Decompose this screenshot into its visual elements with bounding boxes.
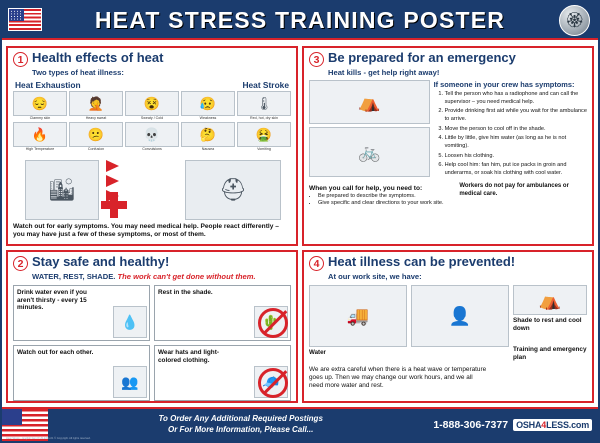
- symptom-caption: Sweaty / Cold: [125, 117, 179, 121]
- nausea-icon: 🤔: [181, 122, 235, 147]
- headache-icon: 🤦: [69, 91, 123, 116]
- call-bullets: Be prepared to describe the symptoms. Gi…: [309, 193, 453, 208]
- list-item: Be prepared to describe the symptoms.: [318, 193, 453, 200]
- thermometer-icon: 🌡: [237, 91, 291, 116]
- panel-2-title: Stay safe and healthy!: [32, 255, 169, 269]
- symptom-cell: 🤮 Vomiting: [237, 122, 291, 151]
- panel-1-illustration: 🏙 ⛑: [13, 154, 291, 220]
- federal-seal-icon: 🏵: [559, 5, 590, 36]
- panel-3-body: ⛺ 🚲 If someone in your crew has symptoms…: [309, 80, 587, 180]
- arrow-right-icon: [106, 175, 119, 187]
- tip-watch-each-other: Watch out for each other. 👥: [13, 345, 150, 401]
- safety-tips-grid: Drink water even if you aren't thirsty -…: [13, 285, 291, 401]
- training-session-icon: 👤: [411, 285, 509, 347]
- contact-block: 1-888-306-7377 OSHA4LESS.com: [433, 419, 598, 431]
- panel-4-title: Heat illness can be prevented!: [328, 255, 515, 269]
- symptom-cell: 😔 Clammy skin: [13, 91, 67, 120]
- panel-3-head: 3 Be prepared for an emergency: [309, 51, 587, 67]
- order-instructions: To Order Any Additional Required Posting…: [48, 414, 433, 436]
- tip-text: Drink water even if you aren't thirsty -…: [17, 289, 97, 312]
- symptom-icon-grid: 😔 Clammy skin 🤦 Heavy sweat 😵 Sweaty / C…: [13, 91, 291, 152]
- osha4less-logo[interactable]: OSHA4LESS.com: [513, 419, 592, 431]
- flag-canton: [9, 9, 24, 21]
- panel-1-subtitle: Two types of heat illness:: [32, 68, 291, 77]
- panel-1-title: Health effects of heat: [32, 51, 163, 65]
- sweating-person-icon: 😔: [13, 91, 67, 116]
- heat-stress-poster: HEAT STRESS TRAINING POSTER 🏵 1 Health e…: [0, 0, 600, 443]
- list-item: Help cool him: fan him, put ice packs in…: [445, 162, 587, 177]
- panel-health-effects: 1 Health effects of heat Two types of he…: [6, 46, 298, 246]
- panel-1-footer-text: Watch out for early symptoms. You may ne…: [13, 223, 291, 239]
- call-for-help-block: When you call for help, you need to: Be …: [309, 183, 453, 208]
- panel-1-head: 1 Health effects of heat: [13, 51, 291, 67]
- caption-water: Water: [309, 349, 407, 356]
- order-line-2: Or For More Information, Please Call...: [48, 425, 433, 436]
- symptom-caption: Red, hot, dry skin: [237, 117, 291, 121]
- symptom-cell: 💀 Convulsions: [125, 122, 179, 151]
- symptom-caption: Weakness: [181, 117, 235, 121]
- panel-4-side-labels: ⛺ Shade to rest and cool down Training a…: [513, 285, 587, 362]
- panel-4-illustrations: 🚚 Water 👤 ⛺ Shade to rest and cool down …: [309, 285, 587, 362]
- list-item: Provide drinking first aid while you wai…: [445, 108, 587, 123]
- label-heat-exhaustion: Heat Exhaustion: [15, 80, 81, 90]
- panel-emergency: 3 Be prepared for an emergency Heat kill…: [302, 46, 594, 246]
- shade-tent-icon: ⛺: [513, 285, 587, 315]
- panel-1-number: 1: [13, 52, 28, 67]
- panel-2-subtitle-em: The work can't get done without them.: [118, 272, 256, 281]
- symptom-caption: Heavy sweat: [69, 117, 123, 121]
- prohibition-symbol-icon: [258, 308, 288, 338]
- symptom-cell: 🤦 Heavy sweat: [69, 91, 123, 120]
- training-block: 👤: [411, 285, 509, 347]
- tip-rest-shade: Rest in the shade. 🌵: [154, 285, 291, 341]
- high-temp-icon: 🔥: [13, 122, 67, 147]
- logo-post: LESS.com: [546, 420, 589, 430]
- shade-tent-icon: ⛺: [309, 80, 430, 124]
- list-item: Tell the person who has a radiophone and…: [445, 91, 587, 106]
- panel-3-bottom: When you call for help, you need to: Be …: [309, 183, 587, 208]
- page-title: HEAT STRESS TRAINING POSTER: [95, 7, 505, 34]
- list-item: Move the person to cool off in the shade…: [445, 126, 587, 134]
- eagle-glyph: 🏵: [565, 13, 584, 28]
- list-item: Loosen his clothing.: [445, 153, 587, 161]
- list-item: Give specific and clear directions to yo…: [318, 200, 453, 207]
- symptom-cell: 😵 Sweaty / Cold: [125, 91, 179, 120]
- tip-text: Watch out for each other.: [17, 349, 97, 357]
- arrow-right-icon: [106, 160, 119, 172]
- panel-4-subtitle: At our work site, we have:: [328, 272, 587, 281]
- call-heading: When you call for help, you need to:: [309, 185, 453, 192]
- symptom-cell: 🌡 Red, hot, dry skin: [237, 91, 291, 120]
- first-aid-cooling-icon: ⛑: [185, 160, 281, 220]
- logo-pre: OSHA: [516, 420, 541, 430]
- panel-1-column-labels: Heat Exhaustion Heat Stroke: [15, 80, 289, 90]
- tip-drink-water: Drink water even if you aren't thirsty -…: [13, 285, 150, 341]
- phone-number[interactable]: 1-888-306-7377: [433, 419, 508, 431]
- work-van-water-icon: 🚚: [309, 285, 407, 347]
- symptom-cell: 🤔 Nausea: [181, 122, 235, 151]
- symptom-caption: Confusion: [69, 148, 123, 152]
- label-shade: Shade to rest and cool down: [513, 317, 587, 332]
- water-cooler-icon: 💧: [113, 306, 147, 338]
- tip-text: Wear hats and light-colored clothing.: [158, 349, 238, 364]
- convulsions-icon: 💀: [125, 122, 179, 147]
- panel-2-number: 2: [13, 256, 28, 271]
- symptom-caption: Vomiting: [237, 148, 291, 152]
- panel-3-steps: If someone in your crew has symptoms: Te…: [434, 80, 587, 180]
- payment-note: Workers do not pay for ambulances or med…: [459, 183, 587, 198]
- person-down-first-aid-icon: 🚲: [309, 127, 430, 177]
- two-workers-icon: 👥: [113, 366, 147, 398]
- water-block: 🚚 Water: [309, 285, 407, 356]
- label-training: Training and emergency plan: [513, 346, 587, 361]
- symptom-caption: Nausea: [181, 148, 235, 152]
- steps-heading: If someone in your crew has symptoms:: [434, 80, 587, 89]
- panel-grid: 1 Health effects of heat Two types of he…: [2, 42, 598, 407]
- vomiting-icon: 🤮: [237, 122, 291, 147]
- poster-header: HEAT STRESS TRAINING POSTER 🏵: [2, 2, 598, 40]
- symptom-cell: 🔥 High Temperature: [13, 122, 67, 151]
- panel-stay-safe: 2 Stay safe and healthy! WATER, REST, SH…: [6, 250, 298, 403]
- confusion-icon: 😕: [69, 122, 123, 147]
- steps-list: Tell the person who has a radiophone and…: [434, 91, 587, 177]
- panel-3-number: 3: [309, 52, 324, 67]
- panel-3-subtitle: Heat kills - get help right away!: [328, 68, 587, 77]
- panel-4-head: 4 Heat illness can be prevented!: [309, 255, 587, 271]
- tip-text: Rest in the shade.: [158, 289, 238, 297]
- poster-footer: To Order Any Additional Required Posting…: [2, 407, 598, 441]
- worker-heat-exhaustion-icon: 🏙: [25, 160, 99, 220]
- prohibition-symbol-icon: [258, 368, 288, 398]
- red-cross-icon: [101, 192, 127, 218]
- symptom-caption: High Temperature: [13, 148, 67, 152]
- weak-icon: 😥: [181, 91, 235, 116]
- dizzy-icon: 😵: [125, 91, 179, 116]
- symptom-cell: 😕 Confusion: [69, 122, 123, 151]
- tip-hats-clothing: Wear hats and light-colored clothing. 🧢: [154, 345, 291, 401]
- panel-2-head: 2 Stay safe and healthy!: [13, 255, 291, 271]
- symptom-caption: Convulsions: [125, 148, 179, 152]
- order-line-1: To Order Any Additional Required Posting…: [48, 414, 433, 425]
- panel-4-number: 4: [309, 256, 324, 271]
- flag-canton: [2, 409, 22, 425]
- label-heat-stroke: Heat Stroke: [242, 80, 289, 90]
- panel-2-subtitle-plain: WATER, REST, SHADE.: [32, 272, 115, 281]
- panel-3-title: Be prepared for an emergency: [328, 51, 516, 65]
- panel-prevention: 4 Heat illness can be prevented! At our …: [302, 250, 594, 403]
- us-flag-icon: [8, 8, 42, 31]
- symptom-cell: 😥 Weakness: [181, 91, 235, 120]
- panel-3-illustrations: ⛺ 🚲: [309, 80, 430, 180]
- panel-2-subtitle: WATER, REST, SHADE. The work can't get d…: [32, 272, 291, 281]
- copyright-microtext: Heat Stress – English Item # HS-ENG-01 ©…: [6, 437, 91, 440]
- list-item: Little by little, give him water (as lon…: [445, 135, 587, 150]
- symptom-caption: Clammy skin: [13, 117, 67, 121]
- panel-4-footer-text: We are extra careful when there is a hea…: [309, 366, 487, 391]
